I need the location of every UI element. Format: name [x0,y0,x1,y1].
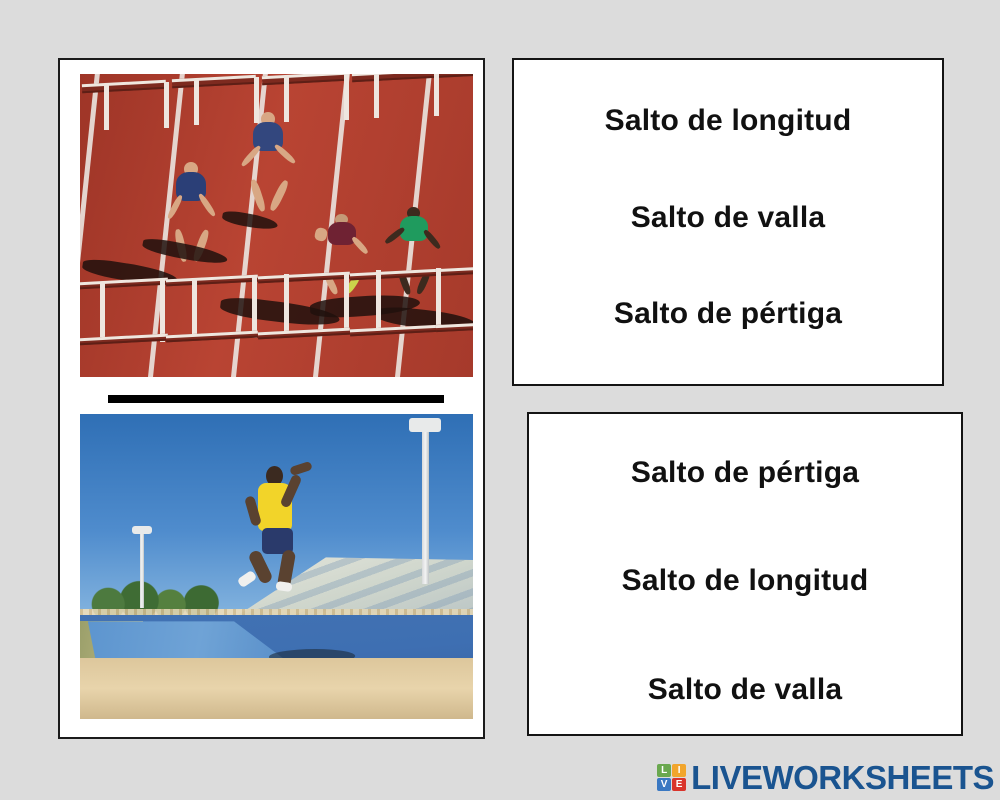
logo-cell-v: V [657,778,671,791]
liveworksheets-logo[interactable]: L I V E LIVEWORKSHEETS [657,761,994,794]
logo-cell-e: E [672,778,686,791]
answer-options-box-2[interactable]: Salto de pértiga Salto de longitud Salto… [527,412,963,736]
hurdles-race-photo [80,74,473,377]
answer-option[interactable]: Salto de valla [529,673,961,707]
answer-option[interactable]: Salto de pértiga [514,297,942,331]
answer-option[interactable]: Salto de longitud [514,104,942,138]
liveworksheets-logo-icon: L I V E [657,764,686,791]
answer-option[interactable]: Salto de valla [514,201,942,235]
answer-option[interactable]: Salto de pértiga [529,456,961,490]
athlete-figure [253,122,283,184]
athletics-photos-panel [58,58,485,739]
athlete-figure [328,222,356,272]
athlete-figure [176,172,206,234]
logo-cell-i: I [672,764,686,777]
long-jump-photo [80,414,473,719]
worksheet-page: Salto de longitud Salto de valla Salto d… [0,0,1000,800]
answer-options-box-1[interactable]: Salto de longitud Salto de valla Salto d… [512,58,944,386]
long-jumper-figure [240,466,312,596]
logo-cell-l: L [657,764,671,777]
liveworksheets-wordmark: LIVEWORKSHEETS [691,761,994,794]
athlete-figure [400,216,428,270]
answer-option[interactable]: Salto de longitud [529,564,961,598]
photo-divider-line [108,395,444,403]
